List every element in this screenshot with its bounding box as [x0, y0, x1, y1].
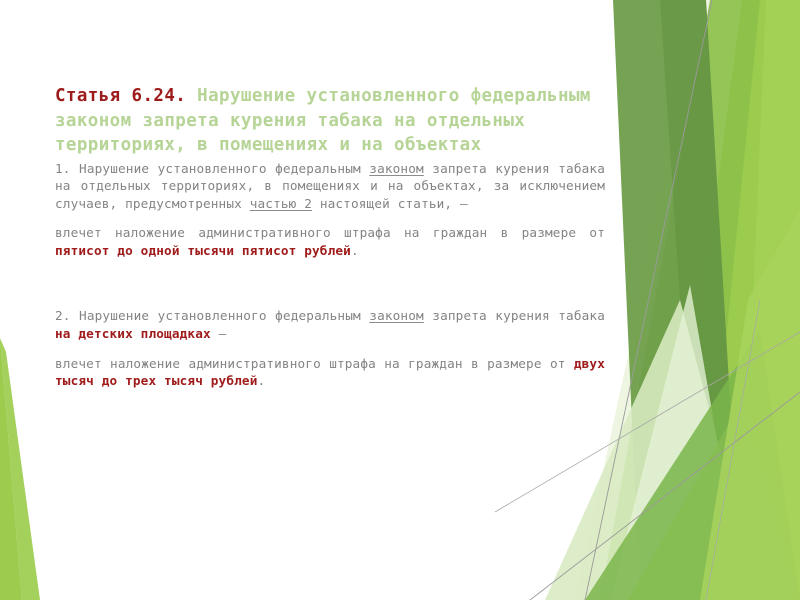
text-run-clause-2-2: запрета курения табака: [424, 308, 605, 323]
text-run-clause-1-4: настоящей статьи, –: [312, 196, 468, 211]
clause-2-penalty-paragraph: влечет наложение административного штраф…: [55, 355, 605, 390]
decor-dark-band: [613, 0, 742, 600]
clause-1-paragraph: 1. Нарушение установленного федеральным …: [55, 160, 605, 213]
decor-pale-sheet: [575, 0, 800, 600]
article-number: Статья 6.24.: [55, 86, 186, 106]
clause-2-paragraph: 2. Нарушение установленного федеральным …: [55, 307, 605, 342]
penalty-amount-clause-1-penalty: пятисот до одной тысячи пятисот рублей: [55, 243, 351, 258]
decor-bright-column: [663, 0, 800, 600]
page-title: Статья 6.24. Нарушение установленного фе…: [55, 84, 605, 158]
decor-bright-wedge: [700, 210, 800, 600]
penalty-amount-clause-2: на детских площадках: [55, 326, 211, 341]
inline-link-clause-1-3[interactable]: частью 2: [250, 196, 312, 211]
text-run-clause-1-penalty-2: .: [351, 243, 359, 258]
decor-line-right: [706, 300, 760, 600]
text-run-clause-1-0: 1. Нарушение установленного федеральным: [55, 161, 369, 176]
slide-canvas: Статья 6.24. Нарушение установленного фе…: [0, 0, 800, 600]
decor-bright-column-2: [740, 0, 800, 600]
decor-left-wedge-edge: [0, 338, 40, 600]
decor-lower-sweep: [585, 330, 800, 600]
decor-pale-triangle-2: [610, 285, 745, 600]
clause-1-penalty-paragraph: влечет наложение административного штраф…: [55, 224, 605, 259]
inline-link-clause-1-1[interactable]: законом: [369, 161, 424, 176]
text-run-clause-2-penalty-2: .: [258, 373, 266, 388]
text-run-clause-2-4: –: [211, 326, 227, 341]
text-run-clause-2-0: 2. Нарушение установленного федеральным: [55, 308, 369, 323]
slide-text-content: Статья 6.24. Нарушение установленного фе…: [55, 84, 605, 390]
decor-left-wedge: [0, 338, 22, 600]
decor-mid-band: [600, 0, 760, 600]
decor-dark-sliver: [660, 0, 742, 600]
decor-line-diagonal: [530, 392, 800, 600]
text-run-clause-2-penalty-0: влечет наложение административного штраф…: [55, 356, 574, 371]
text-run-clause-1-penalty-0: влечет наложение административного штраф…: [55, 225, 605, 240]
decor-lower-sweep-2: [628, 395, 800, 600]
inline-link-clause-2-1[interactable]: законом: [369, 308, 424, 323]
